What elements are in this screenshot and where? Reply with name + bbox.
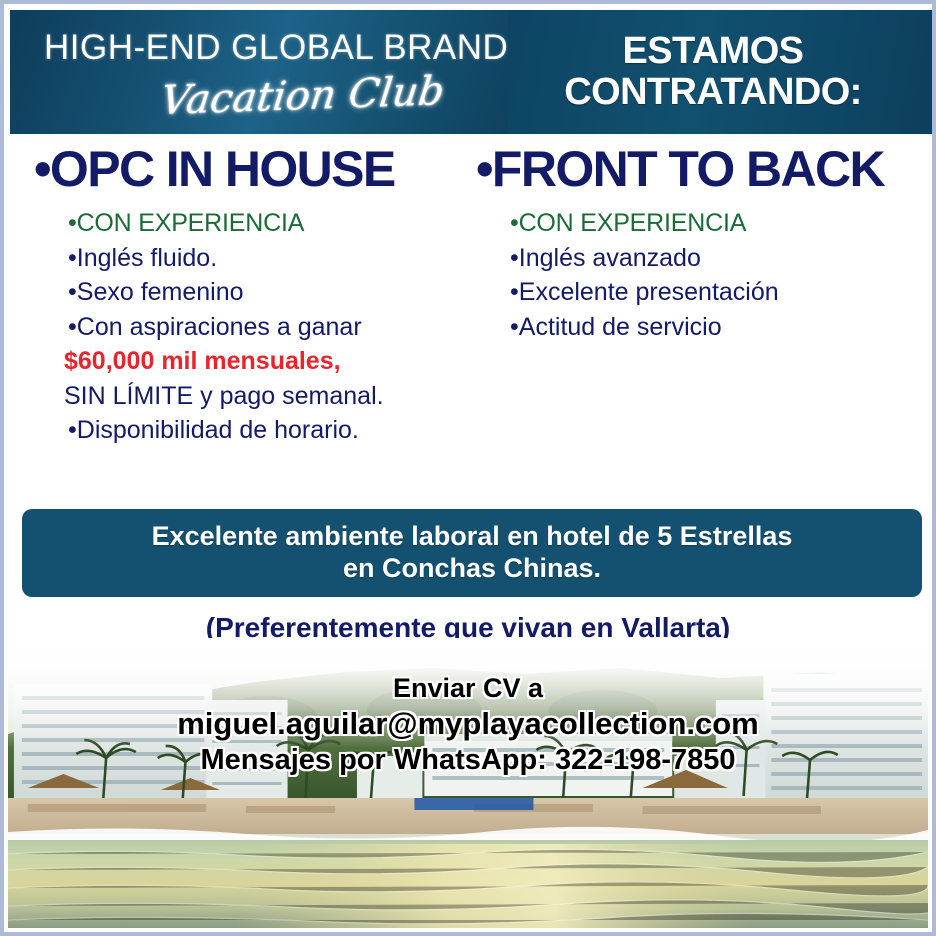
banner-line2: en Conchas Chinas. bbox=[343, 553, 601, 585]
job-listings: •OPC IN HOUSE •CON EXPERIENCIA •Inglés f… bbox=[10, 144, 926, 494]
workplace-banner: Excelente ambiente laboral en hotel de 5… bbox=[22, 509, 922, 597]
requirement-item: •CON EXPERIENCIA bbox=[34, 206, 468, 241]
hiring-panel: ESTAMOS CONTRATANDO: bbox=[508, 10, 932, 134]
bullet-icon: • bbox=[68, 313, 77, 341]
requirement-text: Con aspiraciones a ganar bbox=[77, 313, 362, 341]
requirement-text: Actitud de servicio bbox=[519, 313, 722, 341]
job-advertisement-poster: HIGH-END GLOBAL BRAND Vacation Club ESTA… bbox=[0, 0, 936, 936]
requirement-item: •Excelente presentación bbox=[476, 275, 926, 310]
requirement-list-opc: •CON EXPERIENCIA •Inglés fluido. •Sexo f… bbox=[34, 206, 468, 448]
requirement-list-front-to-back: •CON EXPERIENCIA •Inglés avanzado •Excel… bbox=[476, 206, 926, 344]
requirement-text: Inglés fluido. bbox=[77, 244, 217, 272]
banner-line1: Excelente ambiente laboral en hotel de 5… bbox=[152, 521, 793, 553]
brand-script-logo: Vacation Club bbox=[159, 68, 512, 120]
poster-header: HIGH-END GLOBAL BRAND Vacation Club ESTA… bbox=[10, 10, 932, 134]
requirement-item: •Disponibilidad de horario. bbox=[34, 413, 468, 448]
bullet-icon: • bbox=[510, 209, 519, 237]
bullet-icon: • bbox=[510, 278, 519, 306]
job-column-opc-in-house: •OPC IN HOUSE •CON EXPERIENCIA •Inglés f… bbox=[10, 144, 468, 494]
brand-name: HIGH-END GLOBAL BRAND bbox=[44, 30, 508, 65]
bullet-icon: • bbox=[68, 244, 77, 272]
pool-area bbox=[414, 798, 533, 810]
job-title-front-to-back: •FRONT TO BACK bbox=[476, 144, 926, 194]
requirement-text: Inglés avanzado bbox=[519, 244, 701, 272]
bullet-icon: • bbox=[68, 416, 77, 444]
hiring-headline-line2: CONTRATANDO: bbox=[564, 72, 861, 113]
bullet-icon: • bbox=[68, 278, 77, 306]
bullet-icon: • bbox=[510, 244, 519, 272]
contact-whatsapp[interactable]: Mensajes por WhatsApp: 322-198-7850 bbox=[4, 743, 932, 778]
salary-terms: SIN LÍMITE y pago semanal. bbox=[34, 379, 468, 414]
job-column-front-to-back: •FRONT TO BACK •CON EXPERIENCIA •Inglés … bbox=[468, 144, 926, 494]
job-title-text: FRONT TO BACK bbox=[492, 141, 884, 197]
requirement-item: •CON EXPERIENCIA bbox=[476, 206, 926, 241]
job-bullet-icon: • bbox=[476, 141, 492, 197]
job-title-opc-in-house: •OPC IN HOUSE bbox=[34, 144, 468, 194]
contact-cta: Enviar CV a bbox=[4, 672, 932, 705]
hiring-headline-line1: ESTAMOS bbox=[623, 31, 804, 72]
brand-panel: HIGH-END GLOBAL BRAND Vacation Club bbox=[10, 10, 508, 134]
bullet-icon: • bbox=[510, 313, 519, 341]
requirement-item: •Inglés avanzado bbox=[476, 241, 926, 276]
requirement-text: Disponibilidad de horario. bbox=[77, 416, 359, 444]
job-title-text: OPC IN HOUSE bbox=[50, 141, 395, 197]
bullet-icon: • bbox=[68, 209, 77, 237]
requirement-text: CON EXPERIENCIA bbox=[519, 209, 747, 237]
contact-block: Enviar CV a miguel.aguilar@myplayacollec… bbox=[4, 672, 932, 778]
requirement-text: CON EXPERIENCIA bbox=[77, 209, 305, 237]
salary-amount: $60,000 mil mensuales, bbox=[34, 344, 468, 379]
requirement-item: •Con aspiraciones a ganar bbox=[34, 310, 468, 345]
requirement-text: Excelente presentación bbox=[519, 278, 779, 306]
requirement-item: •Inglés fluido. bbox=[34, 241, 468, 276]
requirement-text: Sexo femenino bbox=[77, 278, 244, 306]
requirement-item: •Actitud de servicio bbox=[476, 310, 926, 345]
requirement-item: •Sexo femenino bbox=[34, 275, 468, 310]
contact-email[interactable]: miguel.aguilar@myplayacollection.com bbox=[4, 705, 932, 743]
job-bullet-icon: • bbox=[34, 141, 50, 197]
